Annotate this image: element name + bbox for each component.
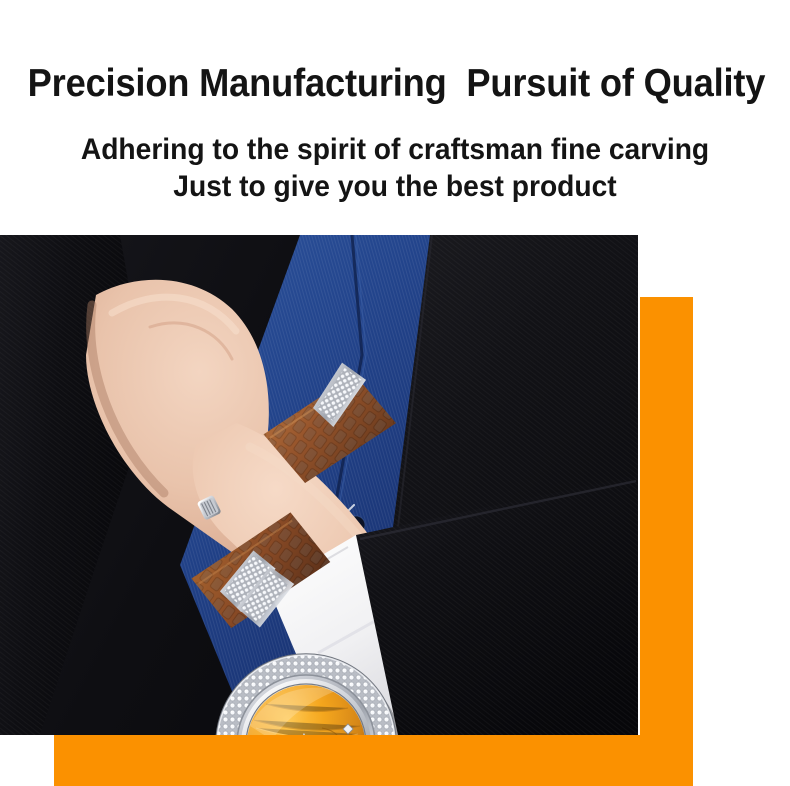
subtitle-block: Adhering to the spirit of craftsman fine… [24,131,767,205]
subtitle-line-2: Just to give you the best product [24,168,767,205]
page-title: Precision Manufacturing Pursuit of Quali… [28,62,763,106]
product-photo: 26 [0,235,638,735]
subtitle-line-1: Adhering to the spirit of craftsman fine… [24,131,767,168]
orange-horizontal-accent [54,735,693,786]
orange-vertical-accent [640,297,693,735]
banner-root: Precision Manufacturing Pursuit of Quali… [0,0,790,786]
photo-illustration: 26 [0,235,638,735]
